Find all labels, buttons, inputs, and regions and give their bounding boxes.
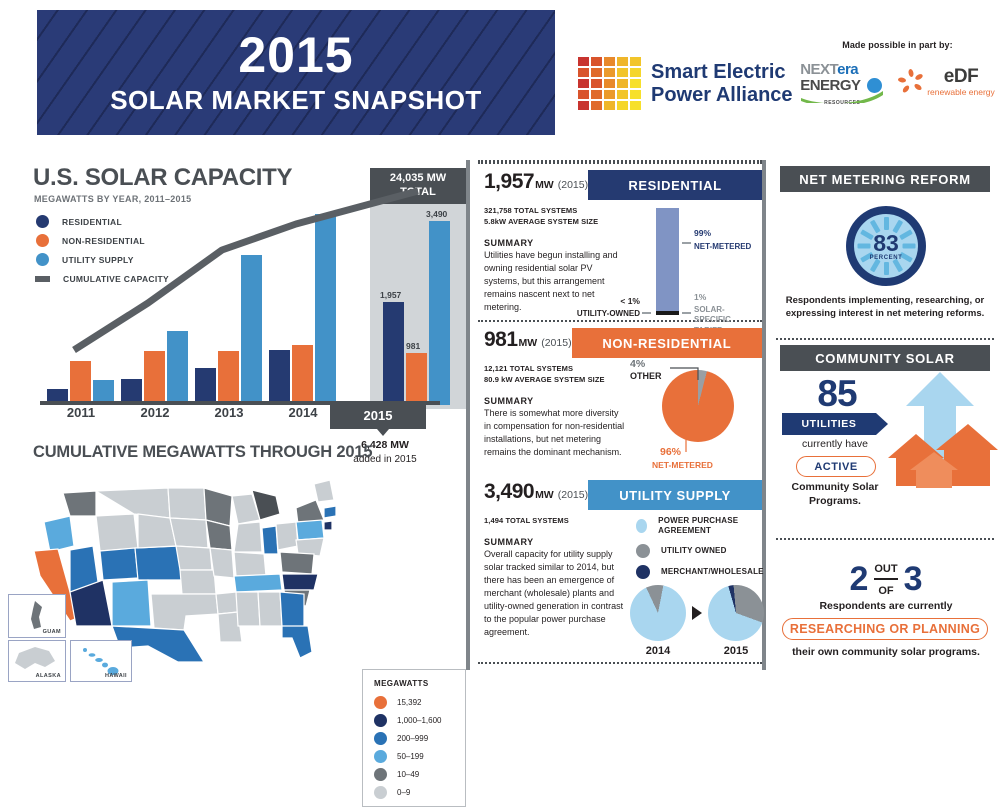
map-legend-label: 1,000–1,600 [397, 716, 442, 725]
state-mt [96, 488, 170, 518]
community-solar-illustration [882, 360, 1000, 495]
edf-sun-icon [898, 69, 924, 95]
legend-dot-icon [636, 519, 647, 533]
panel-tab-utility: UTILITY SUPPLY [588, 480, 762, 510]
community-solar-active-pill: ACTIVE [796, 456, 876, 477]
ratio-out-label: OUT [874, 563, 897, 575]
legend-dot-icon [374, 714, 387, 727]
gauge-segment [902, 244, 915, 249]
left-column: U.S. SOLAR CAPACITY MEGAWATTS BY YEAR, 2… [0, 150, 462, 685]
x-tick-2013: 2013 [192, 405, 266, 420]
map-legend-item: 15,392 [374, 693, 465, 711]
edf-sub-label: renewable energy [927, 88, 995, 97]
sepa-grid-cell [630, 90, 641, 99]
legend-dot-icon [636, 565, 650, 579]
state-me [314, 480, 334, 502]
legend-dot-icon [636, 544, 650, 558]
utility-legend-item: UTILITY OWNED [636, 544, 766, 558]
map-legend-item: 10–49 [374, 765, 465, 783]
sepa-grid-cell [617, 90, 628, 99]
state-ks [180, 570, 216, 594]
panel-unit: MW [535, 179, 554, 191]
state-ky [234, 552, 266, 576]
panel-header: 981 MW (2015) NON-RESIDENTIAL [478, 328, 762, 358]
edf-main-label: eDF [927, 67, 995, 86]
map-legend-item: 0–9 [374, 783, 465, 801]
divider [776, 538, 994, 540]
tick-icon [682, 242, 691, 244]
fraction-bar [874, 578, 897, 580]
utility-legend-label: UTILITY OWNED [661, 546, 727, 556]
made-possible-label: Made possible in part by: [800, 40, 995, 50]
utility-legend-item: POWER PURCHASE AGREEMENT [636, 516, 766, 537]
utility-legend: POWER PURCHASE AGREEMENT UTILITY OWNED M… [636, 516, 766, 586]
state-id [96, 514, 138, 551]
sepa-grid-cell [578, 79, 589, 88]
gauge-segment [860, 229, 874, 240]
gauge-segment [892, 259, 903, 273]
sepa-grid-cell [591, 79, 602, 88]
state-il [234, 522, 262, 552]
partner-logos: Made possible in part by: NEXTera ENERGY… [800, 40, 995, 102]
panel-tab-residential: RESIDENTIAL [588, 170, 762, 200]
sepa-grid-cell [604, 68, 615, 77]
badge-arrow-icon [876, 413, 888, 435]
badge-label: UTILITIES [782, 413, 876, 435]
legend-dot-icon [374, 786, 387, 799]
inset-label: ALASKA [36, 673, 61, 679]
panel-header: 1,957 MW (2015) RESIDENTIAL [478, 170, 762, 200]
divider [776, 338, 994, 340]
inset-guam: GUAM [8, 594, 66, 638]
arrow-right-icon [690, 605, 704, 621]
community-solar-count: 85 [784, 375, 890, 412]
state-ok [151, 594, 218, 630]
added-callout-arrow-icon [377, 429, 389, 436]
map-legend-label: 10–49 [397, 770, 419, 779]
state-sd [170, 518, 208, 548]
net-metering-heading: NET METERING REFORM [780, 166, 990, 192]
state-or [44, 516, 74, 552]
community-solar-have-text: currently have [782, 438, 888, 450]
legend-dot-icon [374, 732, 387, 745]
x-tick-label: 2015 [364, 408, 393, 423]
state-ne [176, 546, 212, 570]
nextera-line-1: NEXTera [800, 62, 884, 77]
panel-year: (2015) [541, 337, 571, 349]
panel-value-group: 981 MW (2015) [478, 328, 572, 358]
net-metering-gauge: 83 PERCENT [846, 206, 926, 286]
panel-nonresidential: 981 MW (2015) NON-RESIDENTIAL 12,121 TOT… [478, 328, 762, 459]
map-legend-item: 200–999 [374, 729, 465, 747]
state-nj [324, 521, 332, 530]
utility-legend-item: MERCHANT/WHOLESALE [636, 565, 766, 579]
gauge-segment [899, 229, 913, 240]
state-al [258, 592, 282, 626]
residential-utility-owned-label: UTILITY-OWNED [556, 309, 640, 319]
right-column: NET METERING REFORM 83 PERCENT Responden… [770, 160, 1000, 680]
panel-year: (2015) [558, 179, 588, 191]
ratio-of-label: OF [878, 585, 893, 597]
sepa-grid-cell [591, 57, 602, 66]
ratio-line-2: their own community solar programs. [776, 646, 996, 658]
nonresidential-net-metered-label: NET-METERED [652, 460, 713, 471]
ratio-fraction: OUT OF [874, 560, 897, 598]
panel-utility-supply: 3,490 MW (2015) UTILITY SUPPLY 1,494 TOT… [478, 480, 762, 639]
sepa-grid-cell [591, 68, 602, 77]
ratio-line-1: Respondents are currently [776, 600, 996, 612]
sepa-grid-cell [604, 57, 615, 66]
sepa-logo: Smart Electric Power Alliance [578, 57, 793, 110]
sepa-grid-cell [604, 101, 615, 110]
net-metering-unit: PERCENT [870, 255, 903, 261]
legend-dot-icon [374, 768, 387, 781]
header: 2015 SOLAR MARKET SNAPSHOT Smart Electri… [0, 0, 1000, 148]
x-tick-2011: 2011 [44, 405, 118, 420]
state-nd [168, 488, 206, 520]
sepa-grid-cell [578, 90, 589, 99]
map-legend-item: 1,000–1,600 [374, 711, 465, 729]
edf-text: eDF renewable energy [927, 67, 995, 97]
divider [478, 162, 762, 164]
map-title: CUMULATIVE MEGAWATTS THROUGH 2015 [33, 443, 372, 462]
map-legend-label: 200–999 [397, 734, 428, 743]
map-legend-title: MEGAWATTS [374, 679, 465, 688]
map-legend-item: 50–199 [374, 747, 465, 765]
x-tick-2014: 2014 [266, 405, 340, 420]
sepa-grid-icon [578, 57, 641, 110]
sepa-grid-cell [578, 68, 589, 77]
state-nc [282, 574, 318, 590]
tick-icon [682, 312, 691, 314]
ratio-pill: RESEARCHING OR PLANNING [782, 618, 988, 640]
sepa-logo-text: Smart Electric Power Alliance [651, 61, 793, 106]
panel-summary-text: Overall capacity for utility supply sola… [478, 547, 628, 639]
utility-legend-label: MERCHANT/WHOLESALE [661, 567, 764, 577]
net-metering-description: Respondents implementing, researching, o… [780, 294, 990, 321]
gauge-segment [884, 262, 889, 275]
community-solar-art-svg [882, 360, 1000, 495]
panel-value: 1,957 [484, 170, 534, 194]
state-co [135, 546, 182, 580]
sepa-grid-cell [591, 90, 602, 99]
state-ma [324, 506, 336, 518]
gauge-segment [869, 259, 880, 273]
utility-pie-2014 [630, 585, 686, 641]
panel-value: 3,490 [484, 480, 534, 504]
legend-dot-icon [374, 696, 387, 709]
ratio-display: 2 OUT OF 3 [786, 560, 986, 598]
sepa-grid-cell [630, 57, 641, 66]
residential-tariff-pct: 1% [694, 292, 706, 303]
residential-mini-chart: 99% NET-METERED 1% SOLAR-SPECIFIC TARIFF… [628, 208, 762, 318]
utility-pie-2015 [708, 585, 764, 641]
state-wa [63, 491, 96, 516]
residential-net-metered-pct: 99% [694, 228, 711, 239]
state-in [262, 526, 278, 554]
net-metering-gauge-inner: 83 PERCENT [854, 214, 918, 278]
middle-column: 1,957 MW (2015) RESIDENTIAL 321,758 TOTA… [466, 160, 766, 670]
page-title-subtitle: SOLAR MARKET SNAPSHOT [110, 85, 482, 116]
nextera-energy-logo: NEXTera ENERGY RESOURCES [800, 62, 884, 102]
tick-icon [642, 312, 651, 314]
state-va [280, 552, 314, 574]
utility-pie-2015-label: 2015 [708, 645, 764, 657]
nonresidential-net-metered-pct: 96% [660, 446, 681, 459]
panel-value-group: 3,490 MW (2015) [478, 480, 588, 510]
sepa-grid-cell [604, 90, 615, 99]
panel-tab-nonresidential: NON-RESIDENTIAL [572, 328, 762, 358]
page-title-year: 2015 [238, 29, 353, 82]
panel-year: (2015) [558, 489, 588, 501]
legend-dot-icon [374, 750, 387, 763]
sepa-grid-cell [604, 79, 615, 88]
state-pa [296, 520, 324, 540]
panel-header: 3,490 MW (2015) UTILITY SUPPLY [478, 480, 762, 510]
inset-alaska: ALASKA [8, 640, 66, 682]
map-legend-label: 50–199 [397, 752, 424, 761]
sepa-grid-cell [591, 101, 602, 110]
state-oh [276, 522, 298, 550]
inset-hawaii: HAWAII [70, 640, 132, 682]
state-nm [112, 580, 151, 626]
sepa-grid-cell [578, 57, 589, 66]
sepa-grid-cell [617, 79, 628, 88]
sepa-grid-cell [617, 68, 628, 77]
chart-x-axis-labels: 2015 2011 2012 2013 2014 [40, 405, 440, 429]
residential-net-metered-label: NET-METERED [694, 242, 751, 252]
inset-label: GUAM [43, 629, 61, 635]
sepa-line-1: Smart Electric [651, 61, 793, 83]
us-solar-map: GUAM ALASKA HAWAII [8, 466, 358, 681]
ratio-denominator: 3 [904, 562, 923, 596]
residential-utility-owned-pct: < 1% [580, 296, 640, 307]
map-legend-label: 15,392 [397, 698, 421, 707]
x-tick-2012: 2012 [118, 405, 192, 420]
state-ms [236, 592, 260, 626]
state-tn [234, 574, 282, 592]
sepa-grid-cell [630, 101, 641, 110]
state-mo [210, 548, 234, 578]
panel-summary-text: There is somewhat more diversity in comp… [478, 406, 628, 459]
panel-value: 981 [484, 328, 518, 352]
utility-pie-pair: 2014 2015 [628, 585, 768, 663]
edf-renewable-energy-logo: eDF renewable energy [898, 67, 995, 97]
community-solar-programs-text: Community Solar Programs. [782, 480, 888, 508]
sepa-grid-cell [630, 79, 641, 88]
sepa-grid-cell [578, 101, 589, 110]
sepa-grid-cell [630, 68, 641, 77]
state-ar [216, 592, 238, 614]
panel-value-group: 1,957 MW (2015) [478, 170, 588, 200]
panel-unit: MW [519, 337, 538, 349]
sepa-line-2: Power Alliance [651, 84, 793, 106]
panel-unit: MW [535, 489, 554, 501]
nonresidential-other-label: OTHER [630, 371, 662, 382]
residential-tariff-bar [656, 311, 679, 315]
map-legend: MEGAWATTS 15,392 1,000–1,600 200–999 50–… [362, 669, 466, 807]
gauge-segment [884, 217, 889, 230]
ratio-numerator: 2 [849, 562, 868, 596]
cumulative-capacity-line [40, 170, 440, 375]
x-tick-2015-highlight: 2015 [330, 401, 426, 429]
net-metering-value: 83 [873, 232, 899, 255]
community-solar-utilities-badge: UTILITIES [782, 413, 888, 435]
inset-label: HAWAII [105, 673, 127, 679]
title-banner: 2015 SOLAR MARKET SNAPSHOT [37, 10, 555, 135]
gauge-segment [857, 244, 870, 249]
panel-residential: 1,957 MW (2015) RESIDENTIAL 321,758 TOTA… [478, 170, 762, 314]
capacity-bar-chart: 24,035 MW TOTAL 1,957 981 [40, 170, 440, 405]
state-ut [100, 548, 138, 580]
utility-pie-2014-label: 2014 [630, 645, 686, 657]
sepa-grid-cell [617, 57, 628, 66]
residential-net-metered-bar [656, 208, 679, 311]
map-legend-label: 0–9 [397, 788, 410, 797]
utility-legend-label: POWER PURCHASE AGREEMENT [658, 516, 766, 537]
state-fl [282, 626, 312, 658]
partner-logo-row: NEXTera ENERGY RESOURCES [800, 62, 995, 102]
nonresidential-other-pct: 4% [630, 358, 645, 371]
state-ga [280, 592, 304, 628]
sepa-grid-cell [617, 101, 628, 110]
